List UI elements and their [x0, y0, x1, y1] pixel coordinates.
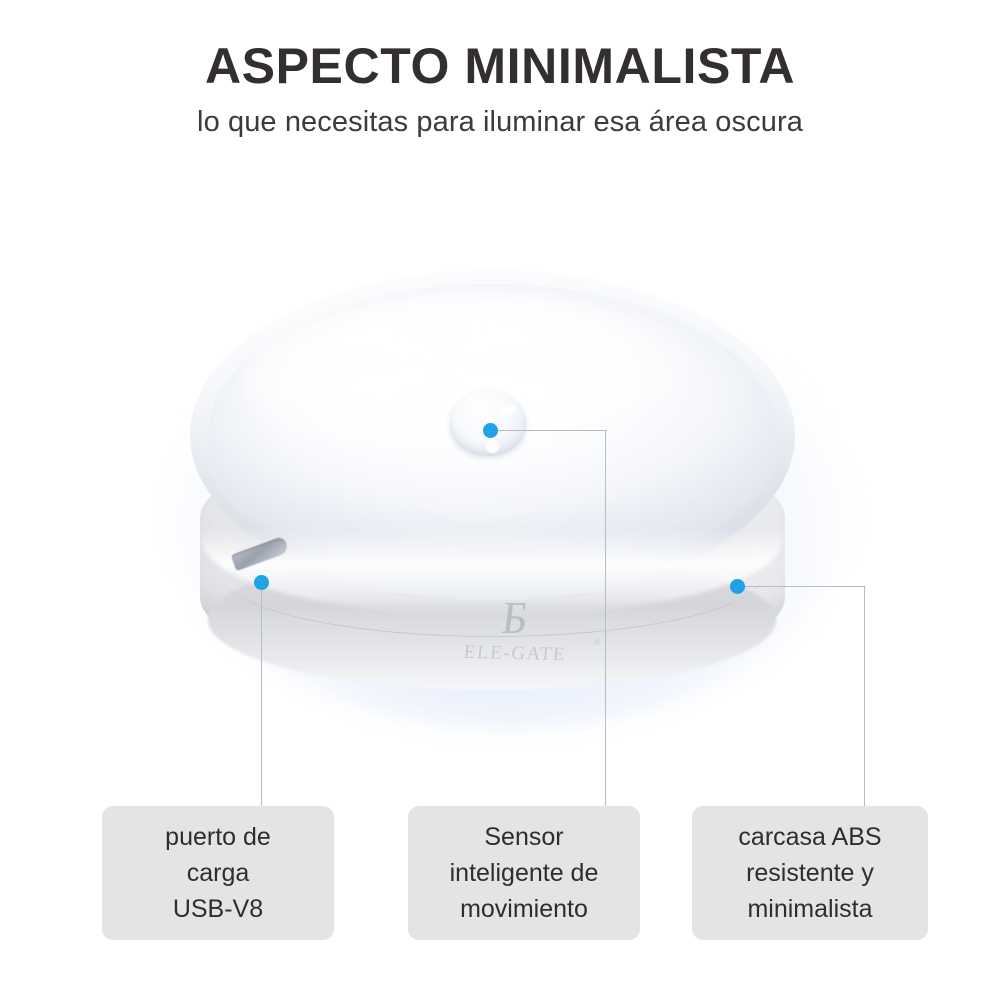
motion-sensor-led [486, 440, 499, 453]
callout-dot-sensor-movimiento[interactable] [483, 423, 498, 438]
callout-box-puerto-de-carga[interactable]: puerto de carga USB-V8 [102, 806, 334, 940]
product-diffuser-lip [202, 464, 782, 616]
callout-leader-carcasa-horizontal [744, 586, 866, 587]
callout-line: carga [165, 855, 271, 891]
callout-leader-carcasa-vertical [864, 586, 865, 806]
callout-box-carcasa-abs[interactable]: carcasa ABS resistente y minimalista [692, 806, 928, 940]
brand-wordmark-text: ELE-GATE [463, 642, 567, 665]
callout-line: carcasa ABS [738, 819, 881, 855]
callout-dot-carcasa-abs[interactable] [730, 579, 745, 594]
callout-line: puerto de [165, 819, 271, 855]
callout-line: minimalista [738, 891, 881, 927]
page-title: ASPECTO MINIMALISTA [0, 38, 1000, 94]
page-subtitle: lo que necesitas para iluminar esa área … [0, 103, 1000, 141]
brand-monogram-icon: Б [427, 595, 603, 641]
callout-leader-sensor-vertical [605, 430, 606, 806]
brand-logo: Б ELE-GATE ® [430, 595, 600, 685]
registered-trademark-icon: ® [592, 637, 602, 648]
callout-line: Sensor [450, 819, 599, 855]
callout-line: inteligente de [450, 855, 599, 891]
callout-dot-puerto-de-carga[interactable] [254, 575, 269, 590]
callout-box-sensor-movimiento[interactable]: Sensor inteligente de movimiento [408, 806, 640, 940]
callout-line: movimiento [450, 891, 599, 927]
callout-line: USB-V8 [165, 891, 271, 927]
infographic-canvas: ASPECTO MINIMALISTA lo que necesitas par… [0, 0, 1000, 1000]
brand-wordmark: ELE-GATE ® [429, 641, 601, 667]
product-image [150, 250, 870, 770]
callout-leader-puerto-de-carga [261, 590, 262, 806]
callout-line: resistente y [738, 855, 881, 891]
callout-leader-sensor-horizontal [497, 430, 607, 431]
